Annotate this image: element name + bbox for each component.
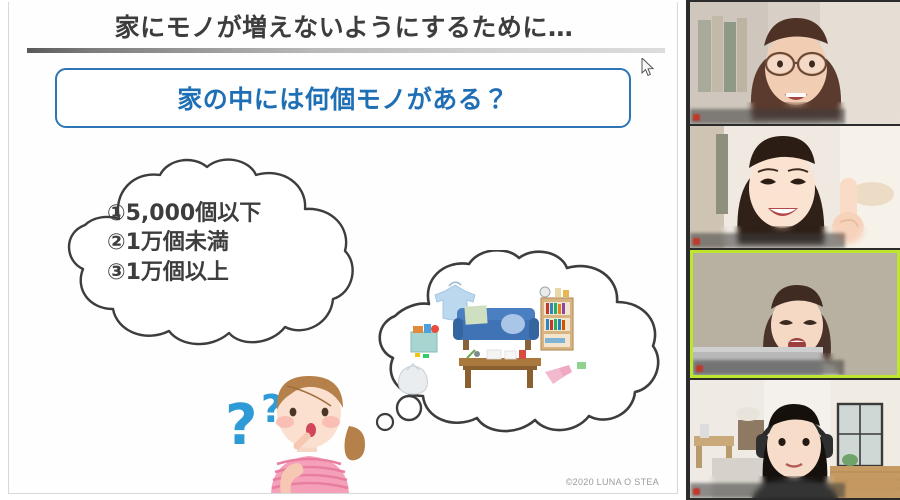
copyright-notice: ©2020 LUNA O STEA [566,477,659,487]
participant-name-4 [690,483,845,498]
participant-video-1 [690,2,900,124]
screen-share-window: 家にモノが増えないようにするために… 家の中には何個モノがある？ ①5,000個… [0,0,900,500]
participant-video-4 [690,380,900,498]
mic-indicator-4 [693,488,700,495]
participant-tile-3[interactable] [690,250,900,378]
participant-tile-1[interactable] [690,2,900,124]
option-item-1: ①5,000個以下 [107,199,357,228]
title-divider-rule [27,48,665,53]
participant-name-3 [693,360,844,375]
mic-indicator-2 [693,238,700,245]
options-list: ①5,000個以下 ②1万個未満 ③1万個以上 [107,199,357,287]
participant-video-2 [690,126,900,248]
slide-title: 家にモノが増えないようにするために… [9,8,678,44]
participant-name-2 [690,233,845,248]
option-item-3: ③1万個以上 [107,258,357,287]
mouse-cursor-icon [641,58,655,77]
participant-name-1 [690,109,845,124]
bookshelf-illustration [540,287,573,350]
question-callout-box: 家の中には何個モノがある？ [55,68,631,128]
shared-screen-area[interactable]: 家にモノが増えないようにするために… 家の中には何個モノがある？ ①5,000個… [0,0,686,500]
option-item-2: ②1万個未満 [107,228,357,257]
question-text: 家の中には何個モノがある？ [177,80,509,116]
options-thought-cloud: ①5,000個以下 ②1万個未満 ③1万個以上 [59,157,379,352]
presentation-slide[interactable]: 家にモノが増えないようにするために… 家の中には何個モノがある？ ①5,000個… [8,2,678,494]
cluttered-room-thought-cloud [367,250,667,435]
mic-indicator-3 [696,365,703,372]
participant-video-3 [693,253,897,375]
participant-tile-2[interactable] [690,126,900,248]
mic-indicator-1 [693,114,700,121]
participant-tile-4[interactable] [690,380,900,498]
thinking-person-illustration [231,368,391,494]
